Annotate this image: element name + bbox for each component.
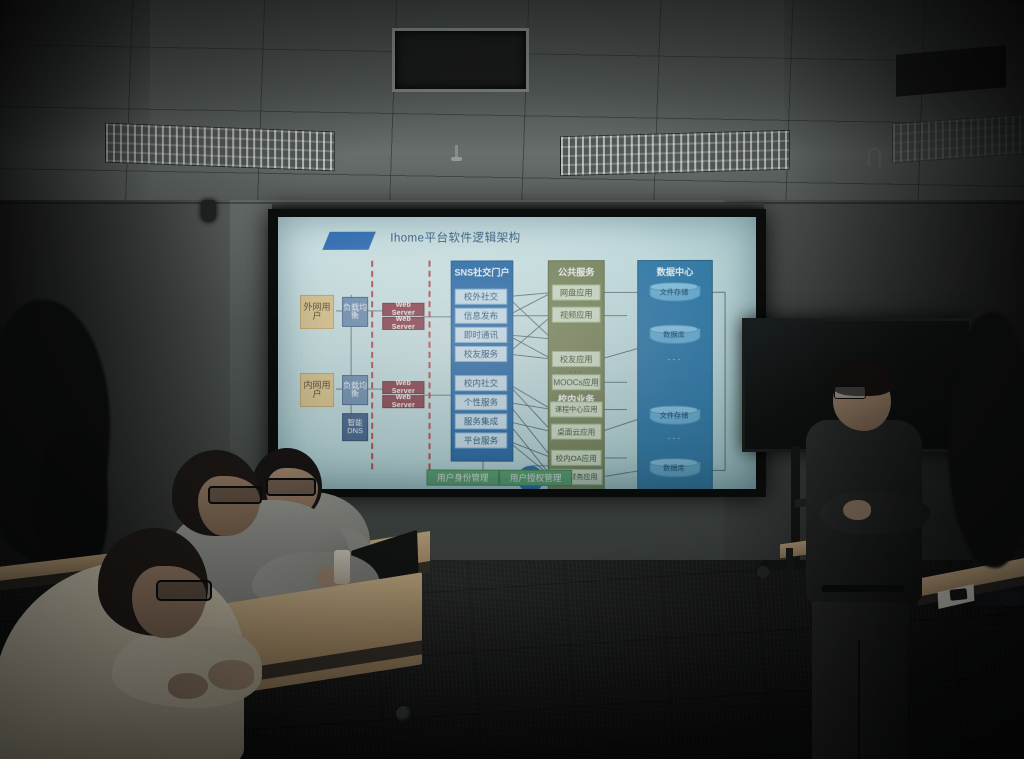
slide-node-database: 数据库 xyxy=(649,458,698,478)
water-bottle xyxy=(334,550,350,584)
slide-box-identity-management: 用户身份管理 xyxy=(426,469,499,485)
slide-box-authorization-management: 用户授权管理 xyxy=(499,470,572,486)
front-student-left-hand xyxy=(168,673,208,699)
slide-node-file-storage: 文件存储 xyxy=(649,282,698,302)
ceiling-shadow-left xyxy=(0,0,150,205)
slide-item-sns: 即时通讯 xyxy=(455,327,508,343)
slide-item-public: 校友应用 xyxy=(552,351,601,367)
meeting-room-photo: Ihome平台软件逻辑架构 xyxy=(0,0,1024,759)
slide-box-web-server: Web Server xyxy=(382,303,424,316)
slide-ellipsis: ··· xyxy=(638,433,712,443)
caster-wheel xyxy=(396,706,412,722)
presenter-belt xyxy=(822,585,904,592)
caster-wheel xyxy=(757,566,769,578)
projection-screen: Ihome平台软件逻辑架构 xyxy=(278,217,756,489)
slide-item-sns: 平台服务 xyxy=(455,432,508,448)
projector-ceiling-recess xyxy=(392,28,529,92)
presenter-legs xyxy=(812,588,908,759)
slide-item-public: MOOCs应用 xyxy=(552,374,601,390)
slide-group-title-public: 公共服务 xyxy=(549,265,604,278)
slide-item-campus: 桌面云应用 xyxy=(551,424,602,440)
slide-group-title-sns: SNS社交门户 xyxy=(452,265,513,278)
slide-box-external-user: 外网用户 xyxy=(300,295,334,329)
slide-item-public: 视频应用 xyxy=(552,307,601,323)
ceiling xyxy=(0,0,1024,205)
slide-box-internal-user: 内网用户 xyxy=(300,373,334,407)
slide-box-web-server: Web Server xyxy=(382,395,424,408)
presenter-hand xyxy=(843,500,871,520)
slide-item-campus: 校内OA应用 xyxy=(551,450,602,466)
slide-item-sns: 校内社交 xyxy=(455,375,508,391)
eyeglasses-icon xyxy=(834,386,866,399)
slide-item-sns: 校友服务 xyxy=(455,346,508,362)
slide-item-sns: 个性服务 xyxy=(455,394,508,410)
slide-item-campus: 课程中心应用 xyxy=(550,401,603,417)
slide-box-web-server: Web Server xyxy=(382,381,424,394)
slide-node-database: 数据库 xyxy=(649,325,698,345)
slide-content: Ihome平台软件逻辑架构 xyxy=(278,217,756,489)
slide-group-title-datacenter: 数据中心 xyxy=(638,265,712,278)
slide-box-web-server: Web Server xyxy=(382,317,424,330)
eyeglasses-icon xyxy=(208,486,262,504)
eyeglasses-icon xyxy=(266,478,316,496)
slide-box-load-balancer: 负载均衡 xyxy=(342,297,368,327)
mobile-phone xyxy=(949,588,967,601)
presenter-crossed-arms xyxy=(820,492,930,534)
eyeglasses-icon xyxy=(156,580,212,601)
front-student-right-hand xyxy=(208,660,254,690)
presenter-leg-seam xyxy=(858,640,860,759)
slide-item-sns: 校外社交 xyxy=(455,289,508,305)
slide-node-file-storage: 文件存储 xyxy=(649,406,698,426)
ceiling-light-louver xyxy=(560,130,790,176)
podium-leg xyxy=(786,548,793,620)
slide-item-sns: 服务集成 xyxy=(455,413,508,429)
slide-item-public: 网盘应用 xyxy=(552,284,601,300)
computer-mouse xyxy=(1000,592,1022,606)
slide-box-load-balancer: 负载均衡 xyxy=(342,375,368,405)
ceiling-shadow-right xyxy=(784,0,1024,205)
slide-box-smart-dns: 智能DNS xyxy=(342,413,368,441)
slide-item-sns: 信息发布 xyxy=(455,308,508,324)
sprinkler-icon xyxy=(455,145,458,159)
slide-ellipsis: ··· xyxy=(638,354,712,364)
